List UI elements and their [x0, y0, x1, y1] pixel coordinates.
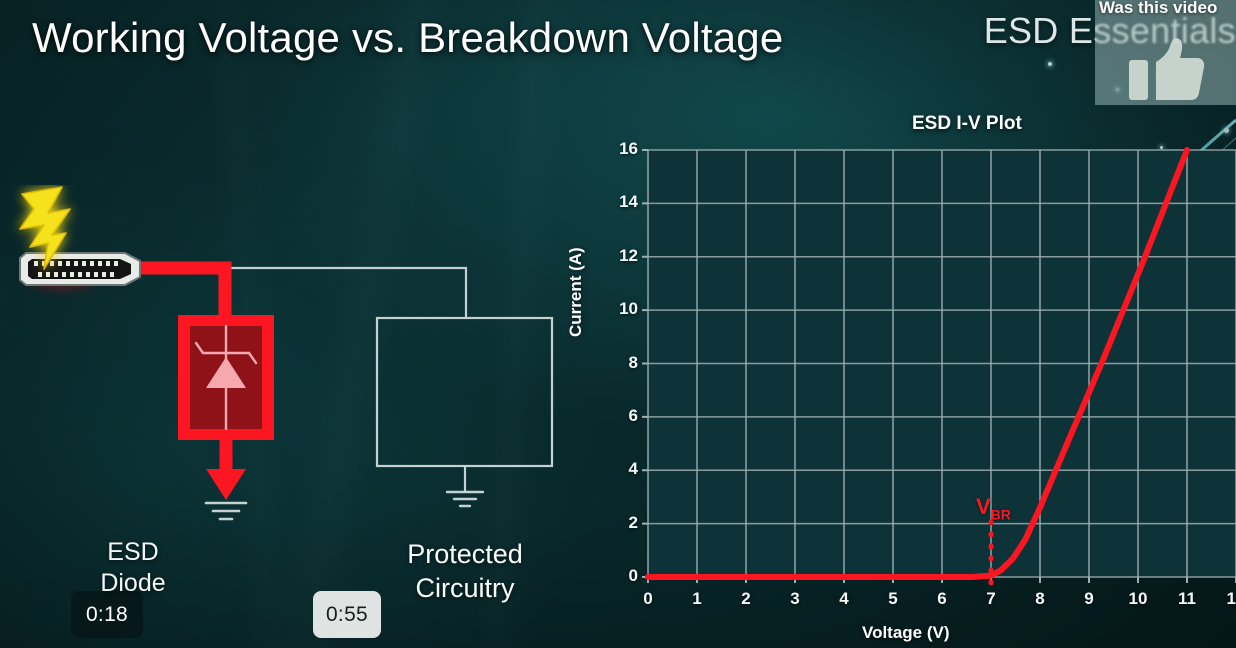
chart-plot-area [575, 105, 1236, 648]
timestamp-total[interactable]: 0:55 [313, 591, 381, 638]
esd-diode-label-line2: Diode [88, 568, 178, 599]
vbr-main: V [976, 494, 991, 519]
timestamp-current[interactable]: 0:18 [71, 591, 143, 638]
esd-diode-label-line1: ESD [88, 537, 178, 568]
feedback-question: Was this video [1099, 0, 1236, 18]
hdmi-connector-icon [20, 253, 140, 285]
video-feedback-overlay[interactable]: Was this video [1095, 0, 1236, 105]
protected-circuitry-label: Protected Circuitry [382, 537, 548, 606]
ground-symbol-icon [447, 492, 483, 506]
slide-stage: Working Voltage vs. Breakdown Voltage ES… [0, 0, 1236, 648]
esd-diode-label: ESD Diode [88, 537, 178, 598]
page-title: Working Voltage vs. Breakdown Voltage [32, 14, 783, 62]
protected-circuitry-box [377, 318, 552, 466]
protected-label-line2: Circuitry [382, 571, 548, 605]
vbr-subscript: BR [991, 507, 1011, 523]
protected-label-line1: Protected [382, 537, 548, 571]
circuit-diagram: ESD Diode Protected Circuitry [0, 185, 580, 545]
ground-symbol-icon [206, 503, 246, 519]
thumbs-up-icon[interactable] [1129, 38, 1205, 100]
signal-wire [150, 268, 466, 318]
esd-current-arrow [206, 469, 246, 500]
iv-plot: ESD I-V Plot Current (A) Voltage (V) 024… [575, 105, 1236, 648]
breakdown-voltage-label: VBR [976, 494, 1011, 522]
